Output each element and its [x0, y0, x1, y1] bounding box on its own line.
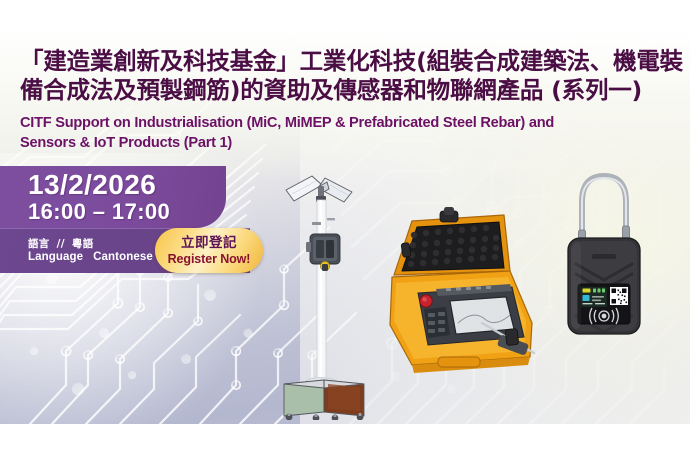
- title-english: CITF Support on Industrialisation (MiC, …: [20, 113, 670, 153]
- product-image-gps-cable-lock: [556, 168, 652, 340]
- language-label-en: Language: [28, 251, 83, 263]
- event-language-english: LanguageCantonese: [28, 251, 153, 263]
- event-language-chinese: 語言//粵語: [28, 236, 94, 251]
- event-banner-poster: 「建造業創新及科技基金」工業化科技(組裝合成建築法、機電裝 備合成法及預製鋼筋)…: [0, 0, 690, 460]
- register-now-button[interactable]: 立即登記 Register Now!: [155, 228, 263, 273]
- bottom-white-strip: [0, 424, 690, 460]
- event-date: 13/2/2026: [28, 170, 156, 200]
- event-time: 16:00 – 17:00: [28, 200, 170, 224]
- language-value-en: Cantonese: [83, 251, 153, 263]
- product-image-orange-hard-case: [382, 205, 540, 377]
- register-label-english: Register Now!: [168, 252, 251, 267]
- title-english-line-1: CITF Support on Industrialisation (MiC, …: [20, 113, 670, 133]
- language-value-zh: 粵語: [72, 238, 94, 250]
- title-chinese-line-2: 備合成法及預製鋼筋)的資助及傳感器和物聯網產品 (系列一): [20, 76, 670, 105]
- title-chinese-line-1: 「建造業創新及科技基金」工業化科技(組裝合成建築法、機電裝: [20, 47, 670, 76]
- banner-headings: 「建造業創新及科技基金」工業化科技(組裝合成建築法、機電裝 備合成法及預製鋼筋)…: [20, 47, 670, 153]
- product-image-solar-sensor-tower: [272, 168, 376, 420]
- top-white-strip: [0, 0, 690, 33]
- language-separator: //: [50, 238, 72, 250]
- language-label-zh: 語言: [28, 238, 50, 250]
- title-english-line-2: Sensors & IoT Products (Part 1): [20, 133, 670, 153]
- register-label-chinese: 立即登記: [181, 235, 237, 251]
